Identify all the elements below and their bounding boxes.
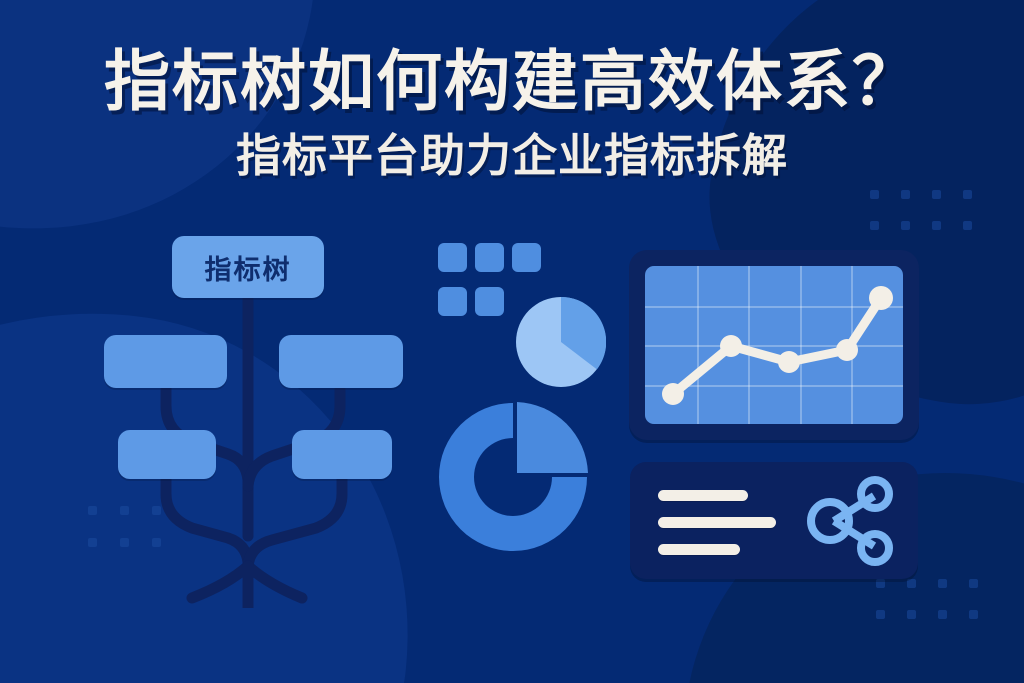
tree-node-right-1[interactable] [279, 335, 403, 388]
line-chart-series [645, 266, 903, 424]
tree-node-right-2[interactable] [292, 430, 392, 479]
share-card-text-lines [658, 490, 776, 555]
tree-node-root[interactable]: 指标树 [172, 236, 324, 298]
text-line-3 [658, 544, 740, 555]
line-point-2 [720, 335, 742, 357]
poster-canvas: 指标树如何构建高效体系？ 指标平台助力企业指标拆解 [0, 0, 1024, 683]
pie-chart [516, 297, 606, 387]
tile-3 [512, 243, 541, 272]
heading-block: 指标树如何构建高效体系？ 指标平台助力企业指标拆解 [0, 46, 1024, 181]
share-network-icon [804, 476, 900, 566]
text-line-1 [658, 490, 748, 501]
tree-node-left-1[interactable] [104, 335, 227, 388]
tile-5 [475, 287, 504, 316]
line-point-5 [869, 286, 893, 310]
tree-node-left-2[interactable] [118, 430, 216, 479]
tile-4 [438, 287, 467, 316]
line-point-3 [778, 351, 800, 373]
donut-wedge-segment [517, 402, 588, 473]
donut-chart [434, 398, 592, 556]
page-subtitle: 指标平台助力企业指标拆解 [0, 131, 1024, 181]
line-chart-plot [645, 266, 903, 424]
line-point-1 [662, 383, 684, 405]
tree-node-root-label: 指标树 [205, 248, 292, 287]
share-card [630, 462, 918, 579]
metric-tree-diagram: 指标树 [96, 236, 426, 608]
text-line-2 [658, 517, 776, 528]
tile-1 [438, 243, 467, 272]
line-point-4 [836, 339, 858, 361]
tile-2 [475, 243, 504, 272]
page-title: 指标树如何构建高效体系？ [0, 46, 1024, 117]
line-chart-card [629, 250, 919, 440]
